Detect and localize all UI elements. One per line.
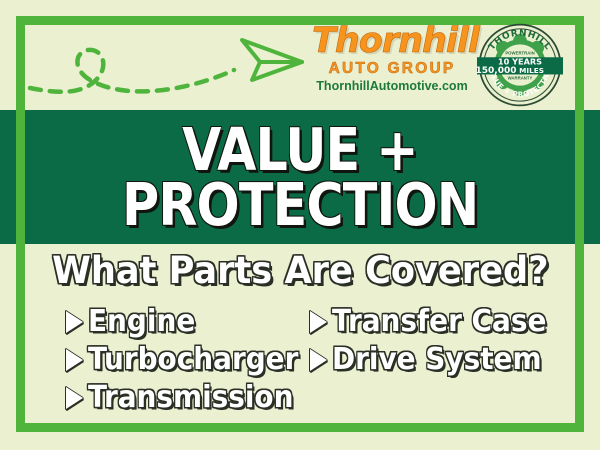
warranty-seal-badge: THORNHILL VALUE + PROTECTION POWERTRAIN … (477, 22, 563, 108)
list-item: Transfer Case (310, 303, 563, 341)
promo-banner: Thornhill AUTO GROUP ThornhillAutomotive… (0, 0, 600, 450)
dashed-arrow-path-icon (20, 18, 310, 110)
badge-powertrain-label: POWERTRAIN (505, 51, 534, 56)
headline-text: VALUE + PROTECTION (0, 110, 600, 244)
headline-line-2: PROTECTION (122, 175, 478, 235)
badge-years-text: 10 YEARS (498, 57, 542, 67)
logo-website-url: ThornhillAutomotive.com (312, 79, 472, 93)
part-label: Drive System (332, 343, 542, 377)
triangle-bullet-icon (66, 387, 83, 409)
triangle-bullet-icon (310, 311, 327, 333)
covered-parts-right-column: Transfer Case Drive System (310, 303, 563, 379)
part-label: Engine (88, 305, 195, 339)
covered-parts-left-column: Engine Turbocharger Transmission (66, 303, 314, 417)
badge-miles-number: 150,000 (477, 66, 517, 76)
list-item: Turbocharger (66, 341, 314, 379)
list-item: Drive System (310, 341, 563, 379)
triangle-bullet-icon (66, 311, 83, 333)
triangle-bullet-icon (66, 349, 83, 371)
badge-warranty-label: WARRANTY (508, 76, 533, 81)
subhead-text: What Parts Are Covered? (52, 249, 548, 293)
logo-wordmark: Thornhill (312, 24, 472, 59)
badge-miles-unit: MILES (519, 66, 544, 75)
covered-parts-lists: Engine Turbocharger Transmission Transfe… (0, 303, 600, 428)
part-label: Transmission (88, 381, 293, 415)
thornhill-logo: Thornhill AUTO GROUP ThornhillAutomotive… (312, 24, 472, 104)
part-label: Turbocharger (88, 343, 298, 377)
part-label: Transfer Case (332, 305, 546, 339)
logo-subtitle: AUTO GROUP (312, 60, 472, 77)
triangle-bullet-icon (310, 349, 327, 371)
list-item: Engine (66, 303, 314, 341)
list-item: Transmission (66, 379, 314, 417)
subhead: What Parts Are Covered? (0, 249, 600, 293)
